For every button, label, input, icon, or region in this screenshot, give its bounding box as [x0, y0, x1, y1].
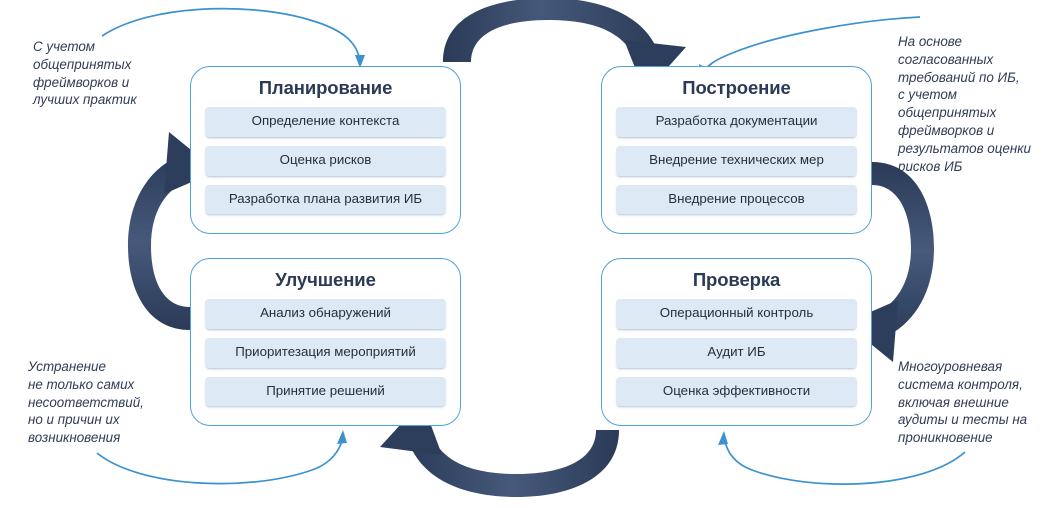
chip-item[interactable]: Приоритезация мероприятий	[205, 338, 446, 368]
quadrant-title-plan: Планирование	[205, 78, 446, 98]
quadrant-title-improve: Улучшение	[205, 270, 446, 290]
chip-item[interactable]: Принятие решений	[205, 377, 446, 407]
chip-item[interactable]: Операционный контроль	[616, 299, 857, 329]
chip-item[interactable]: Определение контекста	[205, 107, 446, 137]
quadrant-card-improve[interactable]: Улучшение Анализ обнаружений Приоритезац…	[190, 258, 461, 426]
chip-list-plan: Определение контекста Оценка рисков Разр…	[205, 107, 446, 214]
quadrant-card-build[interactable]: Построение Разработка документации Внедр…	[601, 66, 872, 234]
chip-item[interactable]: Внедрение технических мер	[616, 146, 857, 176]
chip-item[interactable]: Оценка эффективности	[616, 377, 857, 407]
quadrant-card-check[interactable]: Проверка Операционный контроль Аудит ИБ …	[601, 258, 872, 426]
annotation-note-bottom-left: Устранение не только самих несоответстви…	[28, 358, 190, 447]
quadrant-title-build: Построение	[616, 78, 857, 98]
chip-list-check: Операционный контроль Аудит ИБ Оценка эф…	[616, 299, 857, 406]
annotation-note-top-right: На основе согласованных требований по ИБ…	[898, 33, 1063, 176]
chip-item[interactable]: Разработка документации	[616, 107, 857, 137]
chip-item[interactable]: Разработка плана развития ИБ	[205, 185, 446, 215]
chip-item[interactable]: Внедрение процессов	[616, 185, 857, 215]
quadrant-card-plan[interactable]: Планирование Определение контекста Оценк…	[190, 66, 461, 234]
annotation-note-bottom-right: Многоуровневая система контроля, включая…	[898, 358, 1063, 447]
chip-list-improve: Анализ обнаружений Приоритезация меропри…	[205, 299, 446, 406]
quadrant-title-check: Проверка	[616, 270, 857, 290]
annotation-note-top-left: С учетом общепринятых фреймворков и лучш…	[33, 38, 193, 109]
chip-item[interactable]: Оценка рисков	[205, 146, 446, 176]
chip-list-build: Разработка документации Внедрение технич…	[616, 107, 857, 214]
chip-item[interactable]: Анализ обнаружений	[205, 299, 446, 329]
chip-item[interactable]: Аудит ИБ	[616, 338, 857, 368]
security-cycle-diagram: Планирование Определение контекста Оценк…	[0, 0, 1063, 508]
